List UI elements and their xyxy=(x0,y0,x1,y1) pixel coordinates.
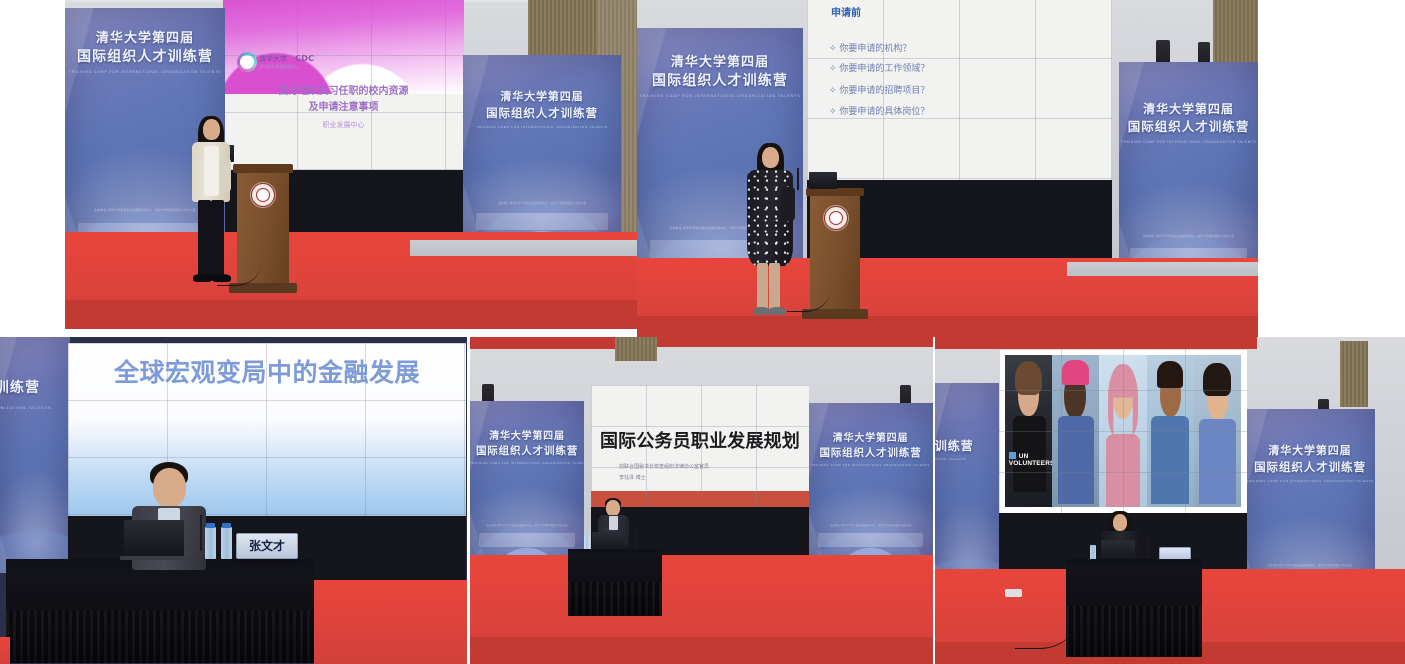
volunteer-portrait-2 xyxy=(1052,355,1099,507)
water-bottle-1 xyxy=(205,527,216,559)
speaker-head xyxy=(1113,514,1127,531)
slide-subtitle-line1: 前联合国秘书长核查组织法律办公室官员 xyxy=(619,463,709,470)
speaker-head xyxy=(762,147,779,168)
speaker-head xyxy=(203,119,220,140)
slide-bullet-3: ✧ 你要申请的招聘项目？ xyxy=(829,83,929,96)
backdrop-footer: 主办单位 清华大学学生职业发展指导中心 · 清华大学国际组织人才办公室 xyxy=(1245,563,1375,567)
backdrop-title-line2: 国际组织人才训练营 xyxy=(808,447,933,460)
hall-floor xyxy=(410,240,637,256)
event-backdrop-right: 清华大学第四届 国际组织人才训练营 TRAINING CAMP FOR INTE… xyxy=(808,403,933,555)
slide-title: 全球宏观变局中的金融发展 xyxy=(68,353,466,389)
microphone-stem xyxy=(1147,535,1148,561)
speaker-leg-right xyxy=(769,263,780,311)
head-table-skirt xyxy=(6,567,314,663)
water-bottle-2 xyxy=(221,527,232,559)
event-backdrop-right: 清华大学第四届 国际组织人才训练营 TRAINING CAMP FOR INTE… xyxy=(1119,62,1258,277)
backdrop-subtitle-en: TRAINING CAMP FOR INTERNATIONAL ORGANIZA… xyxy=(470,461,584,465)
speaker-leg-right xyxy=(211,200,224,278)
un-volunteers-caption: UN VOLUNTEERS xyxy=(1009,452,1055,468)
backdrop-subtitle-en: TRAINING CAMP FOR INTERNATIONAL ORGANIZA… xyxy=(463,125,621,129)
volunteer-portrait-1: UN VOLUNTEERS xyxy=(1005,355,1052,507)
speaker-leg-left xyxy=(757,263,768,311)
backdrop-subtitle-en: TRAINING CAMP FOR INTERNATIONAL ORGANIZA… xyxy=(808,463,933,467)
head-table-skirt xyxy=(568,554,662,616)
speaker-arm xyxy=(781,187,795,221)
panel-2-speaker-at-podium-application-slide: 申请前 ✧ 你要申请的机构？ ✧ 你要申请的工作领域？ ✧ 你要申请的招聘项目？… xyxy=(637,0,1258,338)
backdrop-title-line1: 清华大学第四届 xyxy=(808,433,933,446)
backdrop-sponsor-bar xyxy=(476,213,609,230)
slide-bullet-1: ✧ 你要申请的机构？ xyxy=(829,41,911,54)
slide-heading: 申请前 xyxy=(831,4,861,19)
slide-subtitle-line2: 李钰泽 博士 xyxy=(619,474,646,481)
event-backdrop-left: 国际组织人才训练营 TRAINING CAMP FOR INTERNATIONA… xyxy=(0,337,70,573)
upper-red-band xyxy=(470,337,615,349)
backdrop-title-line1: 清华大学第四届 xyxy=(1245,445,1375,459)
backdrop-title-line2: 国际组织人才训练营 xyxy=(1245,461,1375,475)
backdrop-title-line1: 清华大学第四届 xyxy=(637,54,803,70)
speaker-head xyxy=(153,468,186,507)
tsinghua-seal-icon xyxy=(824,206,848,230)
collage-margin-left xyxy=(0,0,65,337)
backdrop-subtitle-en: TRAINING CAMP FOR INTERNATIONAL ORGANIZA… xyxy=(0,405,70,410)
speaker-shoe-left xyxy=(193,274,212,282)
volunteer-portrait-4 xyxy=(1147,355,1194,507)
led-video-wall: 清华大学 CDC 学生职业发展指导中心 国际组织实习任职的校内资源 及申请注意事… xyxy=(223,0,464,170)
panel-5-seated-speaker-un-volunteers-slide: 国际组织人才训练营 TRAINING CAMP FOR INTERNATIONA… xyxy=(935,337,1405,664)
presenter-laptop xyxy=(124,520,184,557)
tsinghua-seal-icon xyxy=(251,183,275,207)
backdrop-title-fragment: 国际组织人才训练营 xyxy=(0,379,70,397)
panel-4-seated-speaker-civil-servant-slide: 清华大学第四届 国际组织人才训练营 TRAINING CAMP FOR INTE… xyxy=(470,337,933,664)
nameplate: 张文才 xyxy=(236,533,298,559)
upper-red-band-right xyxy=(657,337,933,347)
wood-wall-panel xyxy=(1340,341,1368,407)
backdrop-sponsor-bar xyxy=(479,533,575,547)
collage-gutter-top xyxy=(1258,0,1405,337)
backdrop-subtitle-en: TRAINING CAMP FOR INTERNATIONAL ORGANIZA… xyxy=(65,70,225,74)
backdrop-title-line1: 清华大学第四届 xyxy=(463,91,621,105)
led-video-wall: 申请前 ✧ 你要申请的机构？ ✧ 你要申请的工作领域？ ✧ 你要申请的招聘项目？… xyxy=(807,0,1112,180)
floor-power-box xyxy=(1005,589,1022,597)
backdrop-title-line1: 清华大学第四届 xyxy=(1119,102,1258,117)
speaker-shoe-right xyxy=(769,307,786,315)
event-backdrop-left: 国际组织人才训练营 TRAINING CAMP FOR INTERNATIONA… xyxy=(935,383,1003,597)
speaker-person xyxy=(190,116,240,296)
speaker-shoe-left xyxy=(753,307,770,315)
stage-front-edge xyxy=(470,637,933,664)
un-emblem-icon xyxy=(1009,452,1016,459)
backdrop-footer: 主办单位 清华大学学生职业发展指导中心 · 清华大学国际组织人才办公室 xyxy=(470,523,584,527)
backdrop-subtitle-en: TRAINING CAMP FOR INTERNATIONAL ORGANIZA… xyxy=(935,457,1003,461)
slide-magenta-graphic xyxy=(223,0,464,94)
water-bottle-cap-1 xyxy=(206,523,215,528)
water-bottle-cap-2 xyxy=(222,523,231,528)
speaker-inner-top xyxy=(204,146,219,196)
backdrop-title-line1: 清华大学第四届 xyxy=(470,431,584,444)
panel-3-seated-speaker-finance-slide: 国际组织人才训练营 TRAINING CAMP FOR INTERNATIONA… xyxy=(0,337,467,664)
backdrop-title-line2: 国际组织人才训练营 xyxy=(463,107,621,121)
slide-presenter: 职业发展中心 xyxy=(223,120,464,130)
head-table-skirt xyxy=(1066,565,1202,657)
backdrop-subtitle-en: TRAINING CAMP FOR INTERNATIONAL ORGANIZA… xyxy=(1119,140,1258,144)
cdc-logo-en: CDC xyxy=(295,54,314,63)
speaker-leg-left xyxy=(198,200,211,278)
podium-laptop xyxy=(809,172,837,189)
slide-bullet-4: ✧ 你要申请的具体岗位？ xyxy=(829,104,929,117)
speaker-shoe-right xyxy=(212,274,231,282)
un-volunteers-photo: UN VOLUNTEERS xyxy=(1005,355,1241,507)
backdrop-subtitle-en: TRAINING CAMP FOR INTERNATIONAL ORGANIZA… xyxy=(1245,479,1375,483)
backdrop-footer: 主办单位 清华大学学生职业发展指导中心 · 清华大学国际组织人才办公室 xyxy=(463,201,621,205)
volunteer-portrait-3 xyxy=(1099,355,1146,507)
collage-gutter-bottom-1 xyxy=(467,337,470,664)
led-video-wall: UN VOLUNTEERS xyxy=(999,349,1247,513)
backdrop-title-line1: 清华大学第四届 xyxy=(65,30,225,46)
backdrop-subtitle-en: TRAINING CAMP FOR INTERNATIONAL ORGANIZA… xyxy=(637,94,803,98)
backdrop-title-fragment: 国际组织人才训练营 xyxy=(935,439,1003,454)
cdc-logo-icon xyxy=(237,52,257,72)
backdrop-title-line2: 国际组织人才训练营 xyxy=(637,72,803,90)
led-video-wall: 国际公务员职业发展规划 前联合国秘书长核查组织法律办公室官员 李钰泽 博士 xyxy=(591,385,809,507)
speaker-arm xyxy=(219,158,231,192)
backdrop-title-line2: 国际组织人才训练营 xyxy=(65,48,225,66)
backdrop-footer: 主办单位 清华大学学生职业发展指导中心 · 清华大学国际组织人才办公室 xyxy=(1119,234,1258,238)
stage-front-edge xyxy=(637,316,1258,338)
wood-wall-panel xyxy=(615,337,657,361)
presenter-laptop-base xyxy=(120,556,188,560)
slide-title-line1: 国际组织实习任职的校内资源 xyxy=(223,82,464,97)
slide-bullet-2: ✧ 你要申请的工作领域？ xyxy=(829,61,929,74)
microphone-stem xyxy=(635,527,636,551)
backdrop-footer: 主办单位 清华大学学生职业发展指导中心 · 清华大学国际组织人才办公室 xyxy=(808,523,933,527)
hall-floor xyxy=(1067,262,1258,276)
backdrop-sponsor-bar xyxy=(818,533,923,547)
slide-title-line2: 及申请注意事项 xyxy=(223,98,464,113)
backdrop-title-line2: 国际组织人才训练营 xyxy=(470,445,584,458)
cdc-logo-sub: 学生职业发展指导中心 xyxy=(259,64,300,70)
slide-title: 国际公务员职业发展规划 xyxy=(591,427,809,453)
stage-carpet-left xyxy=(0,637,10,664)
backdrop-title-line2: 国际组织人才训练营 xyxy=(1119,120,1258,136)
photo-collage: 清华大学 CDC 学生职业发展指导中心 国际组织实习任职的校内资源 及申请注意事… xyxy=(0,0,1405,664)
speaker-head xyxy=(606,500,620,516)
panel-1-speaker-at-podium-cdc-slide: 清华大学 CDC 学生职业发展指导中心 国际组织实习任职的校内资源 及申请注意事… xyxy=(65,0,637,329)
collage-gutter-bottom-2 xyxy=(933,337,935,664)
volunteer-portrait-5 xyxy=(1194,355,1241,507)
event-backdrop-left: 清华大学第四届 国际组织人才训练营 TRAINING CAMP FOR INTE… xyxy=(470,401,584,555)
stage-carpet xyxy=(314,580,467,664)
podium-top-surface xyxy=(233,164,293,173)
cdc-logo-cn: 清华大学 xyxy=(259,54,287,64)
stage-front-edge xyxy=(65,300,637,329)
event-backdrop-right: 清华大学第四届 国际组织人才训练营 TRAINING CAMP FOR INTE… xyxy=(463,55,621,240)
speaker-person xyxy=(747,143,807,333)
microphone-stem xyxy=(200,515,202,551)
speaker-shirt xyxy=(609,516,618,530)
upper-red-band xyxy=(935,337,1257,349)
podium-top-surface xyxy=(806,188,864,196)
